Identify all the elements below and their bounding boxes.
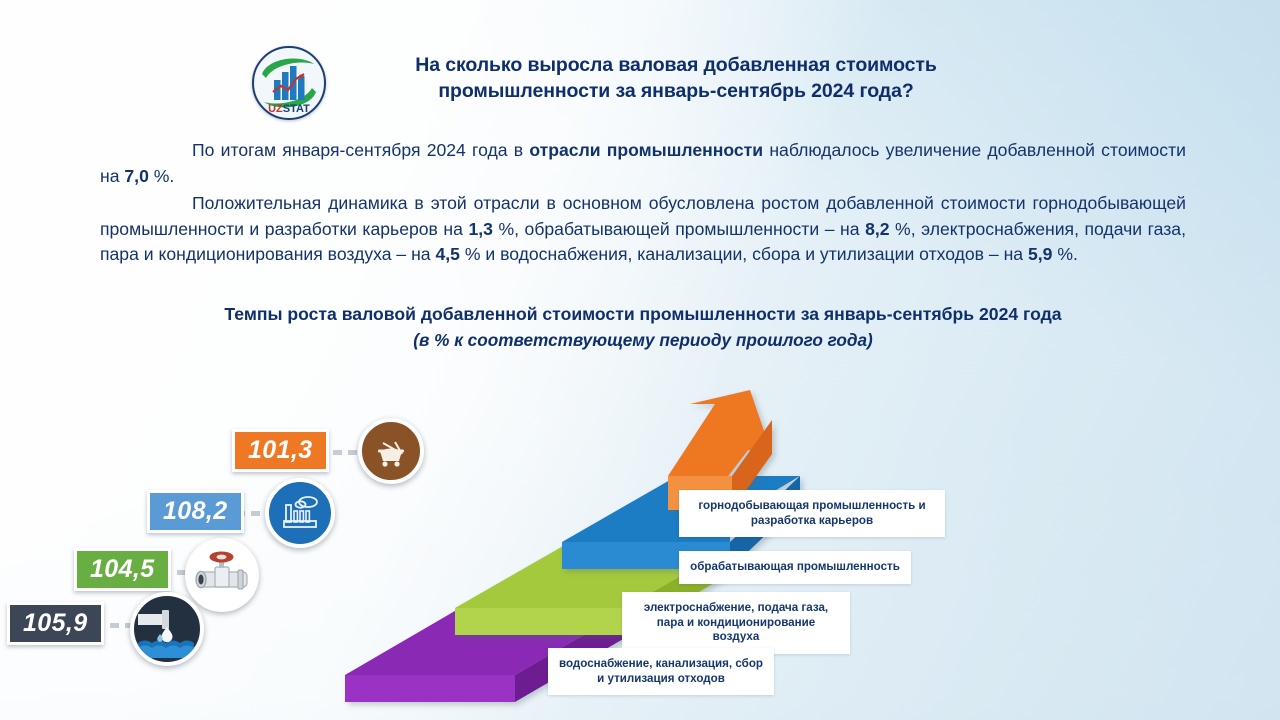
body-text: По итогам января-сентября 2024 года в от… bbox=[100, 138, 1186, 268]
page-title: На сколько выросла валовая добавленная с… bbox=[340, 46, 1012, 104]
category-label-manufacturing: обрабатывающая промышленность bbox=[679, 551, 911, 584]
paragraph-2: Положительная динамика в этой отрасли в … bbox=[100, 191, 1186, 269]
infographic-chart: 101,3 108,2 104,5 105,9 bbox=[0, 380, 1280, 720]
mining-cart-icon bbox=[358, 418, 424, 484]
factory-icon bbox=[265, 478, 335, 548]
pipe-valve-icon bbox=[185, 538, 259, 612]
value-badge-energy: 104,5 bbox=[74, 548, 171, 591]
category-label-water: водоснабжение, канализация, сбор и утили… bbox=[548, 648, 774, 695]
value-badge-manufacturing: 108,2 bbox=[147, 490, 244, 533]
slide-header: UZSTAT На сколько выросла валовая добавл… bbox=[252, 46, 1012, 120]
svg-text:UZSTAT: UZSTAT bbox=[268, 103, 310, 115]
slide-page: UZSTAT На сколько выросла валовая добавл… bbox=[0, 0, 1280, 720]
value-badge-mining: 101,3 bbox=[232, 429, 329, 472]
chart-subtitle: (в % к соответствующему периоду прошлого… bbox=[100, 330, 1186, 351]
uzstat-logo-icon: UZSTAT bbox=[252, 46, 326, 120]
paragraph-1: По итогам января-сентября 2024 года в от… bbox=[100, 138, 1186, 190]
water-drain-icon bbox=[130, 592, 204, 666]
category-label-energy: электроснабжение, подача газа, пара и ко… bbox=[622, 592, 850, 654]
chart-title: Темпы роста валовой добавленной стоимост… bbox=[100, 303, 1186, 326]
category-label-mining: горнодобывающая промышленность и разрабо… bbox=[679, 490, 945, 537]
value-badge-water: 105,9 bbox=[7, 602, 104, 645]
